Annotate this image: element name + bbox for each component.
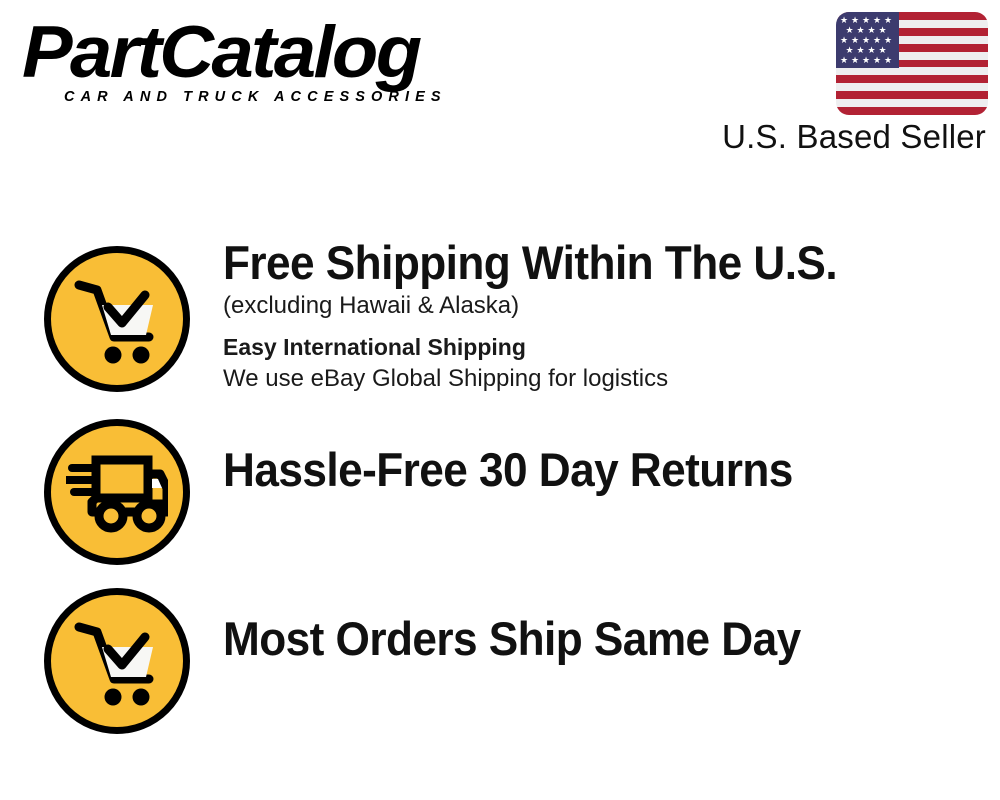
us-flag-icon [836, 12, 988, 115]
flag-star [884, 36, 892, 44]
flag-star [868, 46, 876, 54]
flag-star [851, 56, 859, 64]
flag-star [873, 36, 881, 44]
feature-item-same-day-ship: Most Orders Ship Same Day [0, 578, 1000, 750]
flag-star [862, 56, 870, 64]
flag-stripe [836, 107, 988, 115]
shopping-cart-check-icon [44, 246, 190, 392]
brand-logo: PartCatalog CAR AND TRUCK ACCESSORIES [22, 18, 492, 105]
brand-wordmark: PartCatalog [22, 18, 511, 87]
flag-star [840, 16, 848, 24]
feature-note: (excluding Hawaii & Alaska) [223, 291, 983, 321]
flag-star [868, 26, 876, 34]
flag-star [862, 36, 870, 44]
feature-headline: Most Orders Ship Same Day [223, 614, 937, 665]
flag-canton [836, 12, 899, 68]
flag-stripe [836, 91, 988, 99]
flag-star [857, 46, 865, 54]
feature-text-block: Most Orders Ship Same Day [223, 614, 983, 665]
flag-star [846, 46, 854, 54]
flag-stripe [836, 67, 988, 75]
flag-star [879, 46, 887, 54]
feature-headline: Hassle-Free 30 Day Returns [223, 445, 937, 496]
flag-star [851, 36, 859, 44]
flag-stripe [836, 83, 988, 91]
flag-star [857, 26, 865, 34]
flag-star [846, 26, 854, 34]
flag-star [884, 16, 892, 24]
flag-star [851, 16, 859, 24]
feature-item-returns: Hassle-Free 30 Day Returns [0, 409, 1000, 581]
feature-text-block: Free Shipping Within The U.S. (excluding… [223, 238, 983, 394]
flag-stripe [836, 75, 988, 83]
flag-stripe [836, 99, 988, 107]
feature-item-free-shipping: Free Shipping Within The U.S. (excluding… [0, 236, 1000, 408]
flag-star [840, 36, 848, 44]
feature-text-block: Hassle-Free 30 Day Returns [223, 445, 983, 496]
delivery-truck-icon [44, 419, 190, 565]
feature-sub-text: We use eBay Global Shipping for logistic… [223, 364, 983, 394]
us-flag-badge [836, 12, 988, 115]
shopping-cart-check-icon [44, 588, 190, 734]
flag-star [862, 16, 870, 24]
flag-star [884, 56, 892, 64]
us-based-seller-label: U.S. Based Seller [600, 118, 986, 156]
flag-star [873, 56, 881, 64]
flag-star [840, 56, 848, 64]
flag-star [873, 16, 881, 24]
page-header: PartCatalog CAR AND TRUCK ACCESSORIES [0, 0, 1000, 180]
feature-sub-heading: Easy International Shipping [223, 333, 983, 362]
flag-star [879, 26, 887, 34]
feature-headline: Free Shipping Within The U.S. [223, 238, 937, 289]
